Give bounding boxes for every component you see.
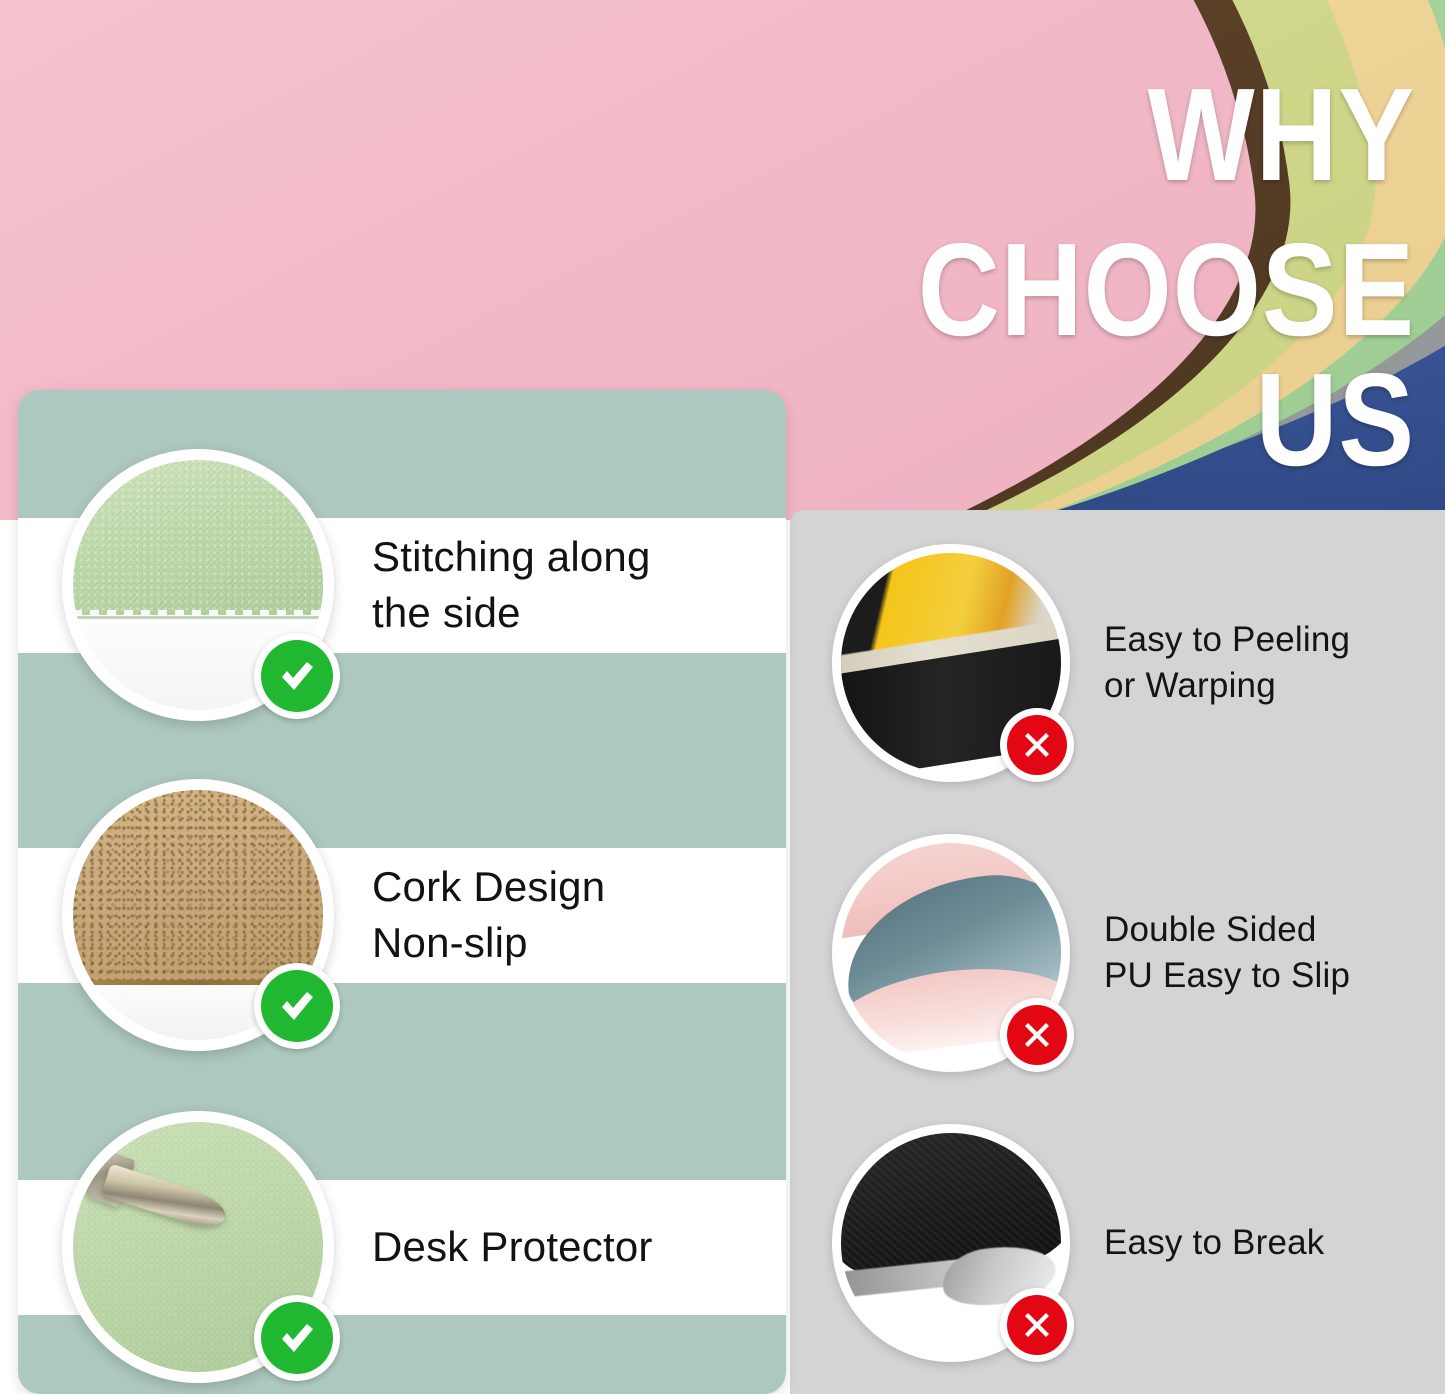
pros-label-line1: Cork Design	[372, 859, 605, 915]
cons-item-label: Easy to Break	[1104, 1220, 1324, 1266]
cons-panel: Easy to Peeling or Warping Double S	[790, 510, 1445, 1394]
pros-label-line2: the side	[372, 585, 651, 641]
cons-item-label: Easy to Peeling or Warping	[1104, 617, 1350, 709]
pros-item: Cork Design Non-slip	[18, 750, 786, 1080]
cross-icon	[1000, 998, 1074, 1072]
cons-thumbnail-break	[832, 1124, 1070, 1362]
cons-label-line2: PU Easy to Slip	[1104, 953, 1350, 999]
cons-thumbnail-peeling	[832, 544, 1070, 782]
pros-thumbnail-desk-protector	[62, 1111, 334, 1383]
pros-label-line2: Non-slip	[372, 915, 605, 971]
pros-label-line1: Desk Protector	[372, 1219, 653, 1275]
pros-item: Stitching along the side	[18, 420, 786, 750]
hero-title-line2: CHOOSE US	[865, 225, 1415, 484]
cons-label-line1: Easy to Break	[1104, 1220, 1324, 1266]
hero-title-line1: WHY	[865, 70, 1415, 199]
cons-item: Easy to Break	[790, 1098, 1445, 1388]
cons-item: Double Sided PU Easy to Slip	[790, 808, 1445, 1098]
pros-thumbnail-cork	[62, 779, 334, 1051]
pros-item: Desk Protector	[18, 1082, 786, 1394]
check-icon	[254, 1295, 340, 1381]
pros-panel: Stitching along the side Cork Desig	[18, 390, 786, 1394]
pros-item-label: Stitching along the side	[372, 529, 651, 642]
pros-item-label: Cork Design Non-slip	[372, 859, 605, 972]
pros-label-line1: Stitching along	[372, 529, 651, 585]
cons-label-line1: Double Sided	[1104, 907, 1350, 953]
check-icon	[254, 963, 340, 1049]
cross-icon	[1000, 1288, 1074, 1362]
infographic-page: WHY CHOOSE US Easy to Peeling	[0, 0, 1445, 1394]
cons-thumbnail-pu-slip	[832, 834, 1070, 1072]
cons-label-line1: Easy to Peeling	[1104, 617, 1350, 663]
cons-label-line2: or Warping	[1104, 663, 1350, 709]
hero-title: WHY CHOOSE US	[775, 70, 1415, 484]
pros-thumbnail-stitching	[62, 449, 334, 721]
cons-item-label: Double Sided PU Easy to Slip	[1104, 907, 1350, 999]
check-icon	[254, 633, 340, 719]
cross-icon	[1000, 708, 1074, 782]
cons-item: Easy to Peeling or Warping	[790, 518, 1445, 808]
pros-item-label: Desk Protector	[372, 1219, 653, 1275]
